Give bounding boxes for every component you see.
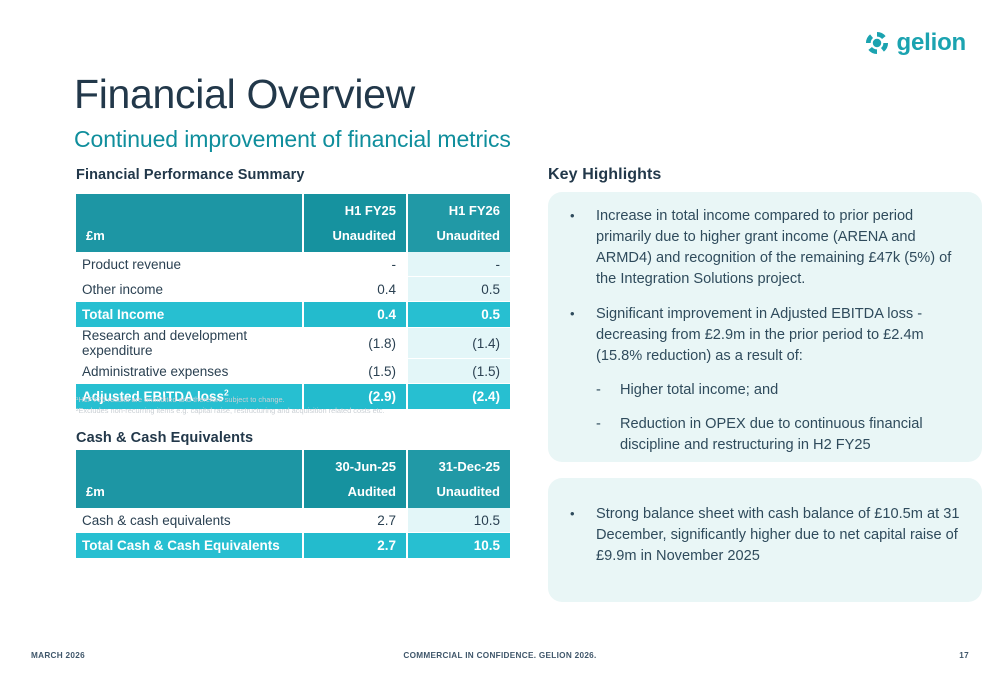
row-value-jun25: 2.7 [302, 508, 406, 533]
row-value-dec25: 10.5 [406, 533, 510, 559]
footer-page-number: 17 [959, 651, 969, 660]
financial-performance-heading: Financial Performance Summary [76, 167, 305, 183]
row-value-fy25: (1.8) [302, 328, 406, 359]
footer-confidentiality: COMMERCIAL IN CONFIDENCE. GELION 2026. [0, 651, 1000, 660]
bullet-icon: • [562, 206, 596, 226]
brand-logo: gelion [864, 30, 966, 56]
header-unit-label: £m [76, 223, 302, 252]
row-value-fy25: 0.4 [302, 302, 406, 328]
row-label: Total Cash & Cash Equivalents [76, 533, 302, 559]
bullet-icon: • [562, 304, 596, 324]
table-header-row-bottom: £m Unaudited Unaudited [76, 223, 510, 252]
table-header-row-bottom: £m Audited Unaudited [76, 479, 510, 508]
cash-equivalents-heading: Cash & Cash Equivalents [76, 430, 253, 446]
row-value-jun25: 2.7 [302, 533, 406, 559]
table-body: Cash & cash equivalents 2.7 10.5 Total C… [76, 508, 510, 559]
page-title: Financial Overview [74, 72, 415, 117]
header-col1-top: H1 FY25 [302, 194, 406, 223]
table-row: Research and development expenditure (1.… [76, 328, 510, 359]
table-row: Product revenue - - [76, 252, 510, 277]
key-highlights-heading: Key Highlights [548, 166, 661, 184]
table-header-row-top: H1 FY25 H1 FY26 [76, 194, 510, 223]
table-footnotes: ¹H1FY26 results are unaudited and theref… [76, 394, 506, 416]
row-label: Total Income [76, 302, 302, 328]
row-value-fy26: 0.5 [406, 277, 510, 302]
bullet-icon: • [562, 504, 596, 524]
header-col2-bottom: Unaudited [406, 479, 510, 508]
gelion-logo-icon [864, 30, 890, 56]
header-col2-top: H1 FY26 [406, 194, 510, 223]
table-row: Administrative expenses (1.5) (1.5) [76, 359, 510, 384]
header-label-top [76, 450, 302, 479]
logo-wordmark: gelion [897, 31, 966, 55]
row-label: Product revenue [76, 252, 302, 277]
dash-icon: - [596, 380, 620, 401]
page-subtitle: Continued improvement of financial metri… [74, 126, 511, 152]
bullet-text: Increase in total income compared to pri… [596, 206, 964, 291]
key-highlights-card-primary: • Increase in total income compared to p… [548, 192, 982, 462]
table-row-total: Total Income 0.4 0.5 [76, 302, 510, 328]
sub-bullet-text: Reduction in OPEX due to continuous fina… [620, 414, 964, 456]
table-body: Product revenue - - Other income 0.4 0.5… [76, 252, 510, 410]
sub-list-item: - Reduction in OPEX due to continuous fi… [562, 414, 964, 456]
sub-bullet-text: Higher total income; and [620, 380, 964, 401]
row-value-fy26: - [406, 252, 510, 277]
row-value-fy25: - [302, 252, 406, 277]
row-value-fy25: 0.4 [302, 277, 406, 302]
bullet-text: Significant improvement in Adjusted EBIT… [596, 304, 964, 367]
footnote-1: ¹H1FY26 results are unaudited and theref… [76, 394, 506, 405]
row-value-fy26: (1.5) [406, 359, 510, 384]
row-label: Other income [76, 277, 302, 302]
row-label: Research and development expenditure [76, 328, 302, 359]
row-label: Administrative expenses [76, 359, 302, 384]
cash-equivalents-table: 30-Jun-25 31-Dec-25 £m Audited Unaudited… [76, 450, 510, 559]
row-value-dec25: 10.5 [406, 508, 510, 533]
row-value-fy26: (1.4) [406, 328, 510, 359]
list-item: • Significant improvement in Adjusted EB… [562, 304, 964, 367]
financial-performance-table: H1 FY25 H1 FY26 £m Unaudited Unaudited P… [76, 194, 510, 410]
table-row: Cash & cash equivalents 2.7 10.5 [76, 508, 510, 533]
row-value-fy25: (1.5) [302, 359, 406, 384]
header-col1-bottom: Audited [302, 479, 406, 508]
table-header-row-top: 30-Jun-25 31-Dec-25 [76, 450, 510, 479]
key-highlights-card-secondary: • Strong balance sheet with cash balance… [548, 478, 982, 602]
table-header: H1 FY25 H1 FY26 £m Unaudited Unaudited [76, 194, 510, 252]
list-item: • Increase in total income compared to p… [562, 206, 964, 291]
table-header: 30-Jun-25 31-Dec-25 £m Audited Unaudited [76, 450, 510, 508]
header-col1-top: 30-Jun-25 [302, 450, 406, 479]
header-col1-bottom: Unaudited [302, 223, 406, 252]
row-value-fy26: 0.5 [406, 302, 510, 328]
table-row: Other income 0.4 0.5 [76, 277, 510, 302]
header-label-top [76, 194, 302, 223]
sub-list-item: - Higher total income; and [562, 380, 964, 401]
row-label: Cash & cash equivalents [76, 508, 302, 533]
footnote-2: ²Excludes non-recurring items e.g. capit… [76, 405, 506, 416]
list-item: • Strong balance sheet with cash balance… [562, 504, 964, 567]
header-col2-top: 31-Dec-25 [406, 450, 510, 479]
bullet-text: Strong balance sheet with cash balance o… [596, 504, 964, 567]
dash-icon: - [596, 414, 620, 435]
header-unit-label: £m [76, 479, 302, 508]
header-col2-bottom: Unaudited [406, 223, 510, 252]
table-row-total: Total Cash & Cash Equivalents 2.7 10.5 [76, 533, 510, 559]
